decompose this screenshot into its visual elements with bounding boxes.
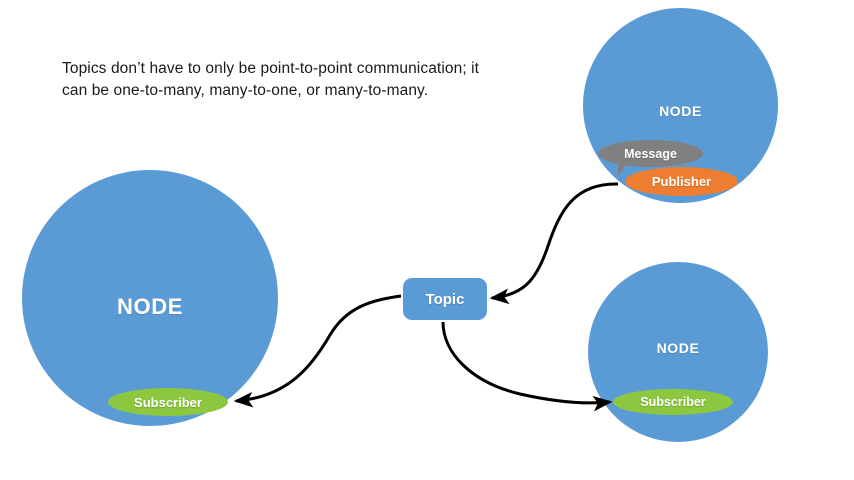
subscriber-pill-left[interactable]: Subscriber: [108, 388, 228, 416]
connector-topic-to-subscriber-bottom-right: [443, 322, 610, 403]
caption-text: Topics don’t have to only be point-to-po…: [62, 58, 482, 103]
node-top-right-label: NODE: [583, 103, 778, 119]
topic-box[interactable]: Topic: [403, 278, 487, 320]
publisher-pill[interactable]: Publisher: [625, 167, 738, 196]
node-bottom-right-label: NODE: [588, 340, 768, 356]
subscriber-pill-bottom-right[interactable]: Subscriber: [613, 389, 733, 415]
node-left-label: NODE: [22, 294, 278, 320]
slide-canvas: Topics don’t have to only be point-to-po…: [0, 0, 854, 480]
message-pill[interactable]: Message: [598, 140, 703, 167]
connector-publisher-to-topic: [492, 184, 618, 298]
message-bubble-tail-icon: [618, 163, 627, 176]
